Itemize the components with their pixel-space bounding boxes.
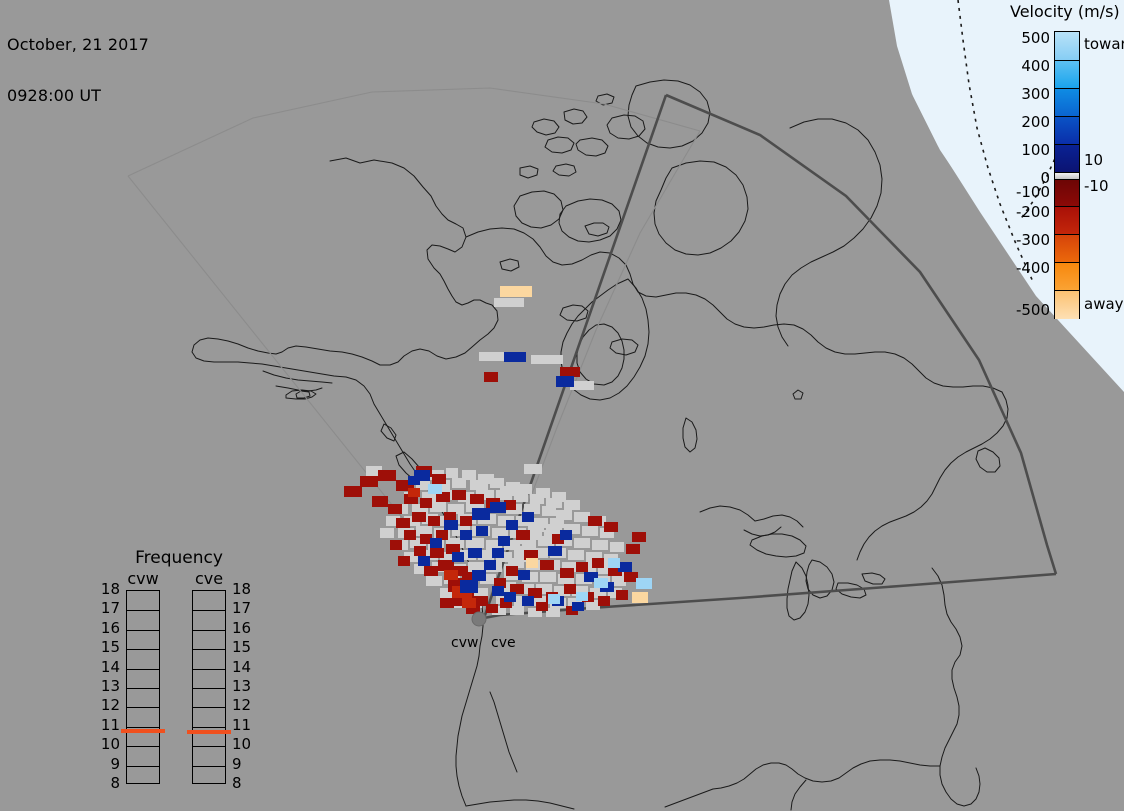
- frequency-gridline: [193, 669, 225, 670]
- colorbar-threshold-lower: -10: [1084, 179, 1109, 194]
- colorbar-tick-500: 500: [1004, 31, 1050, 46]
- colorbar-tick--400: -400: [1004, 261, 1050, 276]
- frequency-gridline: [127, 630, 159, 631]
- frequency-gridline: [193, 707, 225, 708]
- colorbar-band--400-to--500: [1055, 290, 1079, 319]
- colorbar-tick--200: -200: [1004, 205, 1050, 220]
- frequency-marker-cve: [187, 730, 231, 734]
- frequency-gridline: [193, 727, 225, 728]
- colorbar-band-100-to-10: [1055, 144, 1079, 173]
- frequency-gridline: [193, 630, 225, 631]
- colorbar-swatches: [1054, 31, 1080, 319]
- frequency-tick-left-12: 12: [94, 698, 120, 713]
- colorbar-title: Velocity (m/s): [1010, 2, 1124, 21]
- frequency-column-name-cvw: cvw: [121, 569, 165, 588]
- colorbar-band--10-to--100: [1055, 179, 1079, 208]
- colorbar-tick--300: -300: [1004, 233, 1050, 248]
- frequency-tick-left-17: 17: [94, 601, 120, 616]
- frequency-gridline: [127, 766, 159, 767]
- frequency-tick-left-16: 16: [94, 621, 120, 636]
- time-label: 0928:00 UT: [7, 87, 149, 104]
- colorbar-band--200-to--300: [1055, 234, 1079, 263]
- frequency-gridline: [193, 746, 225, 747]
- colorbar-tick-200: 200: [1004, 115, 1050, 130]
- colorbar-toward-label: toward: [1084, 37, 1124, 52]
- frequency-tick-right-13: 13: [232, 679, 258, 694]
- frequency-tick-left-10: 10: [94, 737, 120, 752]
- colorbar-threshold-upper: 10: [1084, 153, 1103, 168]
- colorbar-band-300-to-200: [1055, 88, 1079, 117]
- frequency-gridline: [127, 688, 159, 689]
- colorbar-tick-100: 100: [1004, 143, 1050, 158]
- radar-site-marker: [472, 612, 486, 626]
- frequency-legend: Frequency cvw cve 18171615141312111098 1…: [96, 548, 256, 793]
- frequency-marker-cvw: [121, 729, 165, 733]
- colorbar-band-500-to-400: [1055, 32, 1079, 60]
- frequency-gridline: [127, 707, 159, 708]
- frequency-tick-left-8: 8: [94, 776, 120, 791]
- coastlines: [192, 80, 1008, 810]
- colorbar-band--100-to--200: [1055, 206, 1079, 235]
- date-label: October, 21 2017: [7, 36, 149, 53]
- frequency-tick-right-16: 16: [232, 621, 258, 636]
- frequency-gridline: [193, 688, 225, 689]
- frequency-tick-left-9: 9: [94, 757, 120, 772]
- frequency-gridline: [193, 649, 225, 650]
- frequency-tick-right-18: 18: [232, 582, 258, 597]
- frequency-tick-right-17: 17: [232, 601, 258, 616]
- colorbar-tick-300: 300: [1004, 87, 1050, 102]
- frequency-gridline: [193, 766, 225, 767]
- colorbar-band-400-to-300: [1055, 60, 1079, 89]
- frequency-tick-right-12: 12: [232, 698, 258, 713]
- frequency-bar-cvw: [126, 590, 160, 784]
- frequency-tick-right-8: 8: [232, 776, 258, 791]
- colorbar-band-200-to-100: [1055, 116, 1079, 145]
- colorbar-band--300-to--400: [1055, 262, 1079, 291]
- frequency-gridline: [127, 610, 159, 611]
- frequency-gridline: [127, 727, 159, 728]
- frequency-gridline: [127, 746, 159, 747]
- colorbar-tick--500: -500: [1004, 303, 1050, 318]
- site-label-cve: cve: [491, 635, 516, 651]
- colorbar-tick--100: -100: [1004, 185, 1050, 200]
- colorbar-away-label: away: [1084, 297, 1124, 312]
- fan-plot-canvas: October, 21 2017 0928:00 UT Velocity (m/…: [0, 0, 1124, 811]
- frequency-gridline: [193, 610, 225, 611]
- velocity-colorbar: Velocity (m/s) 5004003002001000-100-200-…: [1004, 2, 1124, 332]
- colorbar-tick-labels: 5004003002001000-100-200-300-400-500: [1004, 24, 1050, 324]
- frequency-column-name-cve: cve: [187, 569, 231, 588]
- frequency-tick-right-9: 9: [232, 757, 258, 772]
- frequency-tick-left-18: 18: [94, 582, 120, 597]
- frequency-tick-left-15: 15: [94, 640, 120, 655]
- colorbar-tick-400: 400: [1004, 59, 1050, 74]
- frequency-tick-right-10: 10: [232, 737, 258, 752]
- frequency-tick-right-11: 11: [232, 718, 258, 733]
- site-label-cvw: cvw: [451, 635, 478, 651]
- frequency-tick-left-13: 13: [94, 679, 120, 694]
- timestamp-block: October, 21 2017 0928:00 UT: [7, 2, 149, 138]
- frequency-bar-cve: [192, 590, 226, 784]
- frequency-gridline: [127, 669, 159, 670]
- frequency-tick-right-15: 15: [232, 640, 258, 655]
- frequency-tick-left-11: 11: [94, 718, 120, 733]
- frequency-tick-right-14: 14: [232, 660, 258, 675]
- frequency-tick-left-14: 14: [94, 660, 120, 675]
- frequency-legend-title: Frequency: [104, 548, 254, 568]
- radar-data-cells: [344, 286, 652, 617]
- frequency-gridline: [127, 649, 159, 650]
